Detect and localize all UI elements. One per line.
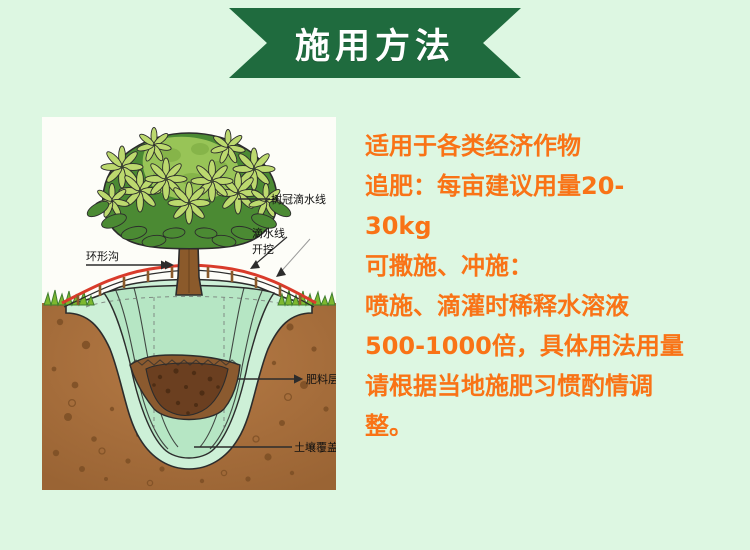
usage-instructions-text: 适用于各类经济作物 追肥：每亩建议用量20- 30kg 可撒施、冲施： 喷施、滴… <box>365 126 740 446</box>
instruction-line: 喷施、滴灌时稀释水溶液 <box>365 286 740 326</box>
instruction-line: 请根据当地施肥习惯酌情调 <box>365 366 740 406</box>
page-title: 施用方法 <box>229 8 521 78</box>
label-drip-line-excavation-line2: 开挖 <box>252 242 274 256</box>
instruction-line: 30kg <box>365 206 740 246</box>
fertilizing-method-illustration: 树冠滴水线 环形沟 滴水线 开挖 肥料层 土壤覆盖层 <box>42 117 336 490</box>
label-canopy-drip-line: 树冠滴水线 <box>271 192 326 206</box>
label-drip-line-excavation-line1: 滴水线 <box>252 226 285 240</box>
banner-header: 施用方法 <box>0 0 750 86</box>
instruction-line: 追肥：每亩建议用量20- <box>365 166 740 206</box>
instruction-line: 适用于各类经济作物 <box>365 126 740 166</box>
instruction-line: 500-1000倍，具体用法用量 <box>365 326 740 366</box>
label-soil-cover-layer: 土壤覆盖层 <box>294 440 336 454</box>
instruction-line: 可撒施、冲施： <box>365 246 740 286</box>
label-ring-trench: 环形沟 <box>86 250 119 263</box>
instruction-line: 整。 <box>365 406 740 446</box>
label-fertilizer-layer: 肥料层 <box>306 372 336 386</box>
illustration-svg: 树冠滴水线 环形沟 滴水线 开挖 肥料层 土壤覆盖层 <box>42 117 336 490</box>
